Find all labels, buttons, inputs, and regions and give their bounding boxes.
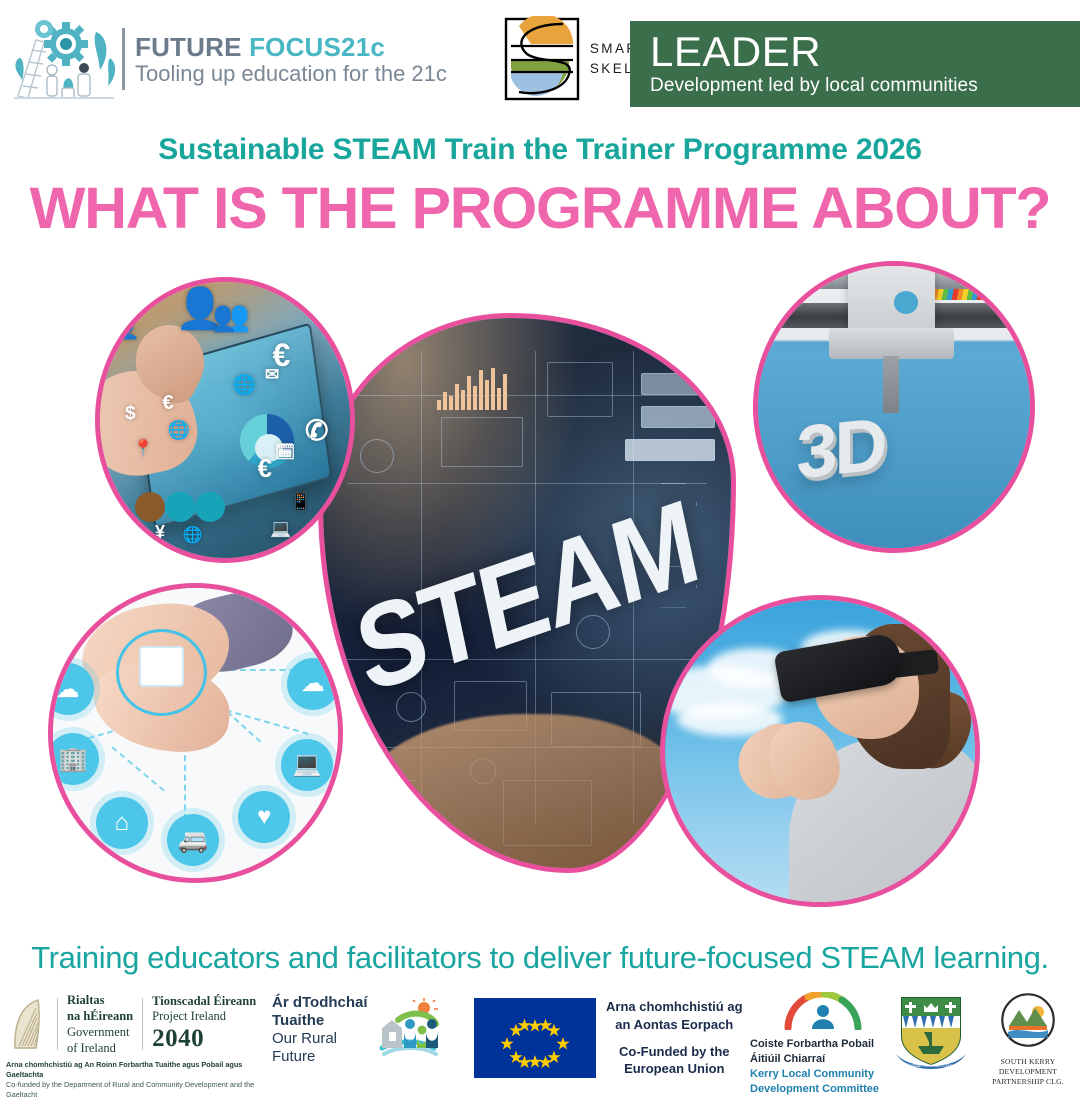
eu-ga-2: an Aontas Eorpach (606, 1016, 743, 1034)
iot-photo: ☁ ☁ 🏢 💻 ⌂ 🚐 ♥ (53, 588, 338, 878)
page-title: WHAT IS THE PROGRAMME ABOUT? (0, 176, 1080, 243)
cofund-note-en: Co-funded by the Department of Rural and… (6, 1080, 274, 1099)
leader-title: LEADER (650, 31, 1080, 73)
dollar-icon: $ (125, 403, 136, 425)
project-ireland-year: 2040 (152, 1024, 256, 1054)
gears-people-illustration-icon (14, 16, 118, 102)
building-icon: 🏢 (48, 733, 99, 785)
euro-icon: € (258, 453, 272, 484)
collage-image-iot-smartwatch: ☁ ☁ 🏢 💻 ⌂ 🚐 ♥ (48, 583, 343, 883)
gov-line-2: na hÉireann (67, 1008, 133, 1024)
image-collage: STEAM € € € $ 👤 👤 👥 (0, 255, 1080, 935)
yen-icon: ¥ (155, 522, 165, 543)
eu-flag-icon (474, 998, 596, 1078)
rural-community-mark-icon (376, 998, 440, 1062)
phone-icon: ✆ (305, 414, 328, 447)
skdp-line-2: PARTNERSHIP CLG. (980, 1077, 1076, 1087)
skdp-line-1: SOUTH KERRY DEVELOPMENT (980, 1057, 1076, 1077)
project-ireland-line-2: Project Ireland (152, 1009, 256, 1024)
leader-subtitle: Development led by local communities (650, 75, 1080, 97)
vr-photo (665, 600, 975, 902)
mobile-icon: 📱 (290, 492, 311, 512)
lcdc-arc-icon (784, 992, 862, 1030)
collage-image-3d-printer: 3D (753, 261, 1035, 553)
lcdc-en-1: Kerry Local Community (750, 1067, 879, 1082)
irish-harp-icon (6, 996, 48, 1052)
collage-image-tablet-data-analytics: € € € $ 👤 👤 👥 🌐 ✉ 🌐 📍 🗓 ✆ 📱 💻 🌐 ¥ (95, 277, 355, 563)
future-focus-tagline: Tooling up education for the 21c (135, 63, 447, 85)
cofund-note-ga: Arna chomhchistiú ag An Roinn Forbartha … (6, 1060, 274, 1080)
pin-icon: 📍 (133, 439, 154, 459)
leader-logo: LEADER Development led by local communit… (630, 21, 1080, 107)
cloud-icon: ☁ (287, 658, 339, 710)
calendar-icon: 🗓 (275, 442, 295, 462)
lcdc-ga-1: Coiste Forbartha Pobail (750, 1037, 879, 1052)
eu-ga-1: Arna chomhchistiú ag (606, 998, 743, 1016)
laptop-icon: 💻 (281, 739, 333, 791)
user-icon: 👤 (113, 315, 140, 341)
future-focus-wordmark: FUTURE FOCUS21c (135, 34, 447, 60)
globe-icon: 🌐 (183, 525, 203, 545)
euro-icon: € (163, 392, 174, 415)
user-group-icon: 👥 (213, 299, 250, 334)
skdp-mountain-sun-icon (993, 992, 1063, 1050)
tablet-photo: € € € $ 👤 👤 👥 🌐 ✉ 🌐 📍 🗓 ✆ 📱 💻 🌐 ¥ (100, 282, 350, 558)
printer-photo: 3D (758, 266, 1030, 548)
title-block: Sustainable STEAM Train the Trainer Prog… (0, 132, 1080, 243)
gov-line-3: Government (67, 1024, 133, 1040)
header-logo-bar: FUTURE FOCUS21c Tooling up education for… (0, 0, 1080, 118)
collage-image-vr-headset-user (660, 595, 980, 907)
government-of-ireland-logo: Rialtas na hÉireann Government of Irelan… (6, 992, 274, 1099)
gov-line-1: Rialtas (67, 992, 133, 1008)
eu-en-2: European Union (606, 1060, 743, 1078)
gov-line-4: of Ireland (67, 1040, 133, 1056)
lcdc-ga-2: Áitiúil Chiarraí (750, 1052, 879, 1067)
kerry-county-crest-icon: Comhar Cumann Ciarraí (894, 994, 976, 1072)
logo-divider (122, 28, 125, 90)
kerry-lcdc-logo: Coiste Forbartha Pobail Áitiúil Chiarraí… (750, 992, 879, 1096)
mail-icon: ✉ (265, 365, 279, 385)
laptop-icon: 💻 (270, 519, 291, 539)
orf-ga-1: Ár dTodhchaí (272, 994, 368, 1012)
globe-icon: 🌐 (168, 420, 190, 441)
programme-tagline: Training educators and facilitators to d… (0, 940, 1080, 976)
car-icon: 🚐 (167, 814, 219, 866)
lcdc-en-2: Development Committee (750, 1082, 879, 1097)
programme-subtitle: Sustainable STEAM Train the Trainer Prog… (0, 132, 1080, 168)
footer-logo-bar: Rialtas na hÉireann Government of Irelan… (0, 988, 1080, 1080)
smartlab-s-mark-icon (503, 16, 581, 102)
eu-en-1: Co-Funded by the (606, 1043, 743, 1061)
future-focus-word-future: FUTURE (135, 32, 249, 62)
eu-cofunding-logo: Arna chomhchistiú ag an Aontas Eorpach C… (474, 998, 743, 1078)
skdp-logo: SOUTH KERRY DEVELOPMENT PARTNERSHIP CLG. (980, 992, 1076, 1087)
heart-pulse-icon: ♥ (238, 791, 290, 843)
orf-en-2: Future (272, 1048, 368, 1066)
project-ireland-line-1: Tionscadal Éireann (152, 994, 256, 1009)
future-focus-21c-logo: FUTURE FOCUS21c Tooling up education for… (14, 13, 447, 105)
globe-icon: 🌐 (233, 373, 257, 397)
kerry-crest-motto: Comhar Cumann Ciarraí (905, 1063, 957, 1069)
cloud-icon: ☁ (48, 663, 94, 715)
orf-ga-2: Tuaithe (272, 1012, 368, 1030)
orf-en-1: Our Rural (272, 1030, 368, 1048)
future-focus-word-focus: FOCUS21c (249, 32, 385, 62)
our-rural-future-logo: Ár dTodhchaí Tuaithe Our Rural Future (272, 994, 440, 1066)
home-icon: ⌂ (96, 797, 148, 849)
